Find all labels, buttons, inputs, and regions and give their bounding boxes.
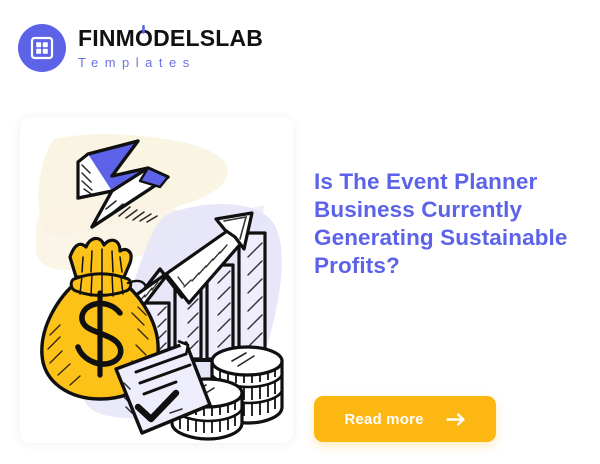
page-title: Is The Event Planner Business Currently … bbox=[314, 168, 586, 280]
brand-header[interactable]: FINMODELSLAB Templates bbox=[18, 24, 263, 72]
illustration-card: Hand-drawn finance illustration: lightni… bbox=[20, 117, 293, 443]
arrow-right-icon bbox=[446, 413, 466, 426]
brand-logo-mark bbox=[18, 24, 66, 72]
finance-illustration: Hand-drawn finance illustration: lightni… bbox=[20, 117, 293, 443]
brand-subtitle: Templates bbox=[78, 56, 263, 69]
promo-card: FINMODELSLAB Templates Hand-drawn financ… bbox=[0, 0, 600, 464]
brand-wordmark: FINMODELSLAB Templates bbox=[78, 27, 263, 69]
read-more-button[interactable]: Read more bbox=[314, 396, 496, 442]
read-more-label: Read more bbox=[344, 411, 423, 428]
content-column: Is The Event Planner Business Currently … bbox=[314, 168, 586, 280]
grid-2x2-icon bbox=[29, 35, 55, 61]
brand-name: FINMODELSLAB bbox=[78, 27, 263, 50]
